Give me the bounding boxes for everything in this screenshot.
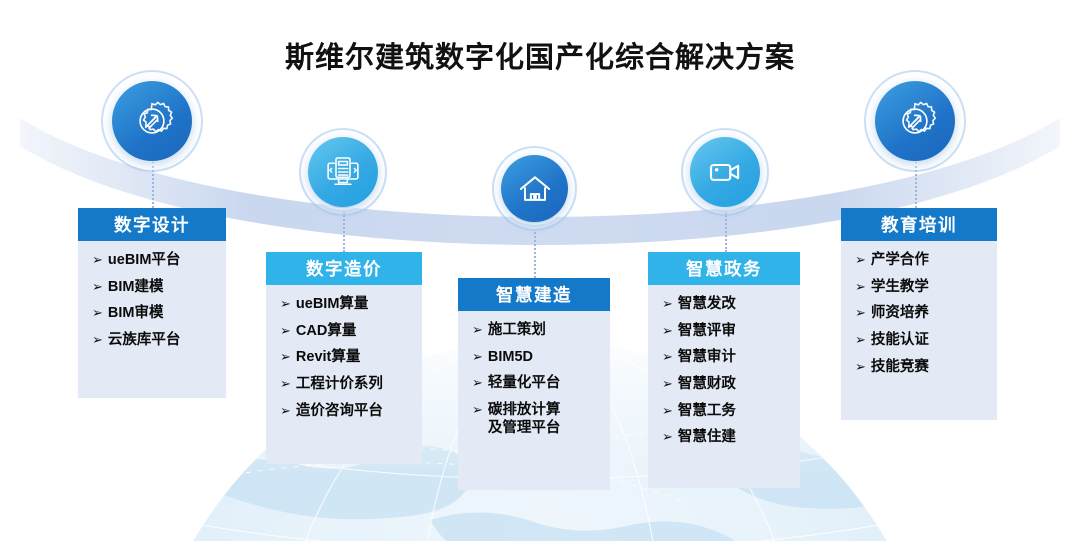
bullet-icon: ➢ bbox=[280, 376, 291, 393]
home-icon bbox=[501, 155, 568, 222]
bullet-icon: ➢ bbox=[280, 296, 291, 313]
video-camera-icon bbox=[690, 137, 760, 207]
bullet-icon: ➢ bbox=[662, 323, 673, 340]
bullet-icon: ➢ bbox=[472, 322, 483, 339]
list-item-label: BIM审模 bbox=[108, 305, 220, 323]
list-item-label: BIM5D bbox=[488, 349, 604, 367]
list-item[interactable]: ➢ 学生教学 bbox=[841, 279, 997, 297]
list-item-label: 云族库平台 bbox=[108, 332, 220, 350]
list-item-label: 技能竞赛 bbox=[871, 359, 991, 377]
list-item[interactable]: ➢ 轻量化平台 bbox=[458, 375, 610, 393]
bullet-icon: ➢ bbox=[662, 403, 673, 420]
list-item-label: 智慧审计 bbox=[678, 349, 794, 367]
bullet-icon: ➢ bbox=[855, 279, 866, 296]
list-item-label: 师资培养 bbox=[871, 305, 991, 323]
list-item[interactable]: ➢ Revit算量 bbox=[266, 349, 422, 367]
list-item[interactable]: ➢ 智慧财政 bbox=[648, 376, 800, 394]
list-item-label: 施工策划 bbox=[488, 322, 604, 340]
bullet-icon: ➢ bbox=[92, 305, 103, 322]
monitor-calculator-icon bbox=[308, 137, 378, 207]
list-item-label: Revit算量 bbox=[296, 349, 416, 367]
gear-arrow-icon bbox=[875, 81, 955, 161]
list-item[interactable]: ➢ 施工策划 bbox=[458, 322, 610, 340]
list-item[interactable]: ➢ BIM审模 bbox=[78, 305, 226, 323]
list-item-label: 技能认证 bbox=[871, 332, 991, 350]
list-item[interactable]: ➢ 碳排放计算 及管理平台 bbox=[458, 402, 610, 437]
card-list-smart-government: ➢ 智慧发改 ➢ 智慧评审 ➢ 智慧审计 ➢ 智慧财政 ➢ 智慧工务 ➢ 智慧住… bbox=[648, 285, 800, 461]
list-item-label: 智慧评审 bbox=[678, 323, 794, 341]
bullet-icon: ➢ bbox=[92, 279, 103, 296]
card-title-smart-government: 智慧政务 bbox=[648, 252, 800, 285]
list-item[interactable]: ➢ 技能竞赛 bbox=[841, 359, 997, 377]
list-item-label: BIM建模 bbox=[108, 279, 220, 297]
card-education-training[interactable]: 教育培训 ➢ 产学合作 ➢ 学生教学 ➢ 师资培养 ➢ 技能认证 ➢ 技能竞赛 bbox=[841, 208, 997, 420]
card-list-digital-design: ➢ ueBIM平台 ➢ BIM建模 ➢ BIM审模 ➢ 云族库平台 bbox=[78, 241, 226, 364]
list-item[interactable]: ➢ 智慧住建 bbox=[648, 429, 800, 447]
bullet-icon: ➢ bbox=[280, 349, 291, 366]
list-item[interactable]: ➢ 技能认证 bbox=[841, 332, 997, 350]
list-item[interactable]: ➢ 智慧评审 bbox=[648, 323, 800, 341]
list-item-label: 产学合作 bbox=[871, 252, 991, 270]
icon-node-smart-construction[interactable] bbox=[492, 146, 577, 231]
card-digital-design[interactable]: 数字设计 ➢ ueBIM平台 ➢ BIM建模 ➢ BIM审模 ➢ 云族库平台 bbox=[78, 208, 226, 398]
list-item-label: 碳排放计算 及管理平台 bbox=[488, 402, 604, 437]
bullet-icon: ➢ bbox=[472, 402, 483, 419]
list-item[interactable]: ➢ 智慧发改 bbox=[648, 296, 800, 314]
bullet-icon: ➢ bbox=[855, 252, 866, 269]
list-item[interactable]: ➢ CAD算量 bbox=[266, 323, 422, 341]
card-title-digital-cost: 数字造价 bbox=[266, 252, 422, 285]
list-item-label: 智慧工务 bbox=[678, 403, 794, 421]
list-item-label: 学生教学 bbox=[871, 279, 991, 297]
infographic-canvas: 斯维尔建筑数字化国产化综合解决方案 bbox=[0, 0, 1080, 541]
list-item[interactable]: ➢ 工程计价系列 bbox=[266, 376, 422, 394]
bullet-icon: ➢ bbox=[280, 403, 291, 420]
list-item[interactable]: ➢ ueBIM平台 bbox=[78, 252, 226, 270]
icon-node-education-training[interactable] bbox=[864, 70, 966, 172]
connector-line-2 bbox=[343, 212, 345, 252]
list-item-label: ueBIM平台 bbox=[108, 252, 220, 270]
card-title-digital-design: 数字设计 bbox=[78, 208, 226, 241]
bullet-icon: ➢ bbox=[92, 332, 103, 349]
card-list-education-training: ➢ 产学合作 ➢ 学生教学 ➢ 师资培养 ➢ 技能认证 ➢ 技能竞赛 bbox=[841, 241, 997, 390]
icon-node-smart-government[interactable] bbox=[681, 128, 769, 216]
card-list-smart-construction: ➢ 施工策划 ➢ BIM5D ➢ 轻量化平台 ➢ 碳排放计算 及管理平台 bbox=[458, 311, 610, 451]
list-item[interactable]: ➢ 造价咨询平台 bbox=[266, 403, 422, 421]
list-item-label: 智慧住建 bbox=[678, 429, 794, 447]
page-title: 斯维尔建筑数字化国产化综合解决方案 bbox=[0, 34, 1080, 76]
list-item-label: 工程计价系列 bbox=[296, 376, 416, 394]
connector-line-3 bbox=[534, 232, 536, 278]
bullet-icon: ➢ bbox=[662, 296, 673, 313]
list-item[interactable]: ➢ 智慧审计 bbox=[648, 349, 800, 367]
card-smart-government[interactable]: 智慧政务 ➢ 智慧发改 ➢ 智慧评审 ➢ 智慧审计 ➢ 智慧财政 ➢ 智慧工务 bbox=[648, 252, 800, 488]
card-title-smart-construction: 智慧建造 bbox=[458, 278, 610, 311]
connector-line-4 bbox=[725, 212, 727, 252]
bullet-icon: ➢ bbox=[662, 376, 673, 393]
card-title-education-training: 教育培训 bbox=[841, 208, 997, 241]
bullet-icon: ➢ bbox=[855, 359, 866, 376]
list-item[interactable]: ➢ 智慧工务 bbox=[648, 403, 800, 421]
bullet-icon: ➢ bbox=[472, 349, 483, 366]
list-item[interactable]: ➢ 云族库平台 bbox=[78, 332, 226, 350]
bullet-icon: ➢ bbox=[280, 323, 291, 340]
list-item-label: 智慧财政 bbox=[678, 376, 794, 394]
list-item-label: CAD算量 bbox=[296, 323, 416, 341]
icon-node-digital-design[interactable] bbox=[101, 70, 203, 172]
bullet-icon: ➢ bbox=[855, 305, 866, 322]
list-item[interactable]: ➢ ueBIM算量 bbox=[266, 296, 422, 314]
bullet-icon: ➢ bbox=[662, 349, 673, 366]
list-item[interactable]: ➢ BIM建模 bbox=[78, 279, 226, 297]
list-item-label: 轻量化平台 bbox=[488, 375, 604, 393]
card-list-digital-cost: ➢ ueBIM算量 ➢ CAD算量 ➢ Revit算量 ➢ 工程计价系列 ➢ 造… bbox=[266, 285, 422, 434]
list-item[interactable]: ➢ 师资培养 bbox=[841, 305, 997, 323]
list-item[interactable]: ➢ BIM5D bbox=[458, 349, 610, 367]
gear-arrow-icon bbox=[112, 81, 192, 161]
bullet-icon: ➢ bbox=[92, 252, 103, 269]
card-digital-cost[interactable]: 数字造价 ➢ ueBIM算量 ➢ CAD算量 ➢ Revit算量 ➢ 工程计价系… bbox=[266, 252, 422, 464]
bullet-icon: ➢ bbox=[472, 375, 483, 392]
list-item[interactable]: ➢ 产学合作 bbox=[841, 252, 997, 270]
bullet-icon: ➢ bbox=[662, 429, 673, 446]
bullet-icon: ➢ bbox=[855, 332, 866, 349]
list-item-label: 智慧发改 bbox=[678, 296, 794, 314]
list-item-label: 造价咨询平台 bbox=[296, 403, 416, 421]
card-smart-construction[interactable]: 智慧建造 ➢ 施工策划 ➢ BIM5D ➢ 轻量化平台 ➢ 碳排放计算 及管理平… bbox=[458, 278, 610, 490]
list-item-label: ueBIM算量 bbox=[296, 296, 416, 314]
icon-node-digital-cost[interactable] bbox=[299, 128, 387, 216]
